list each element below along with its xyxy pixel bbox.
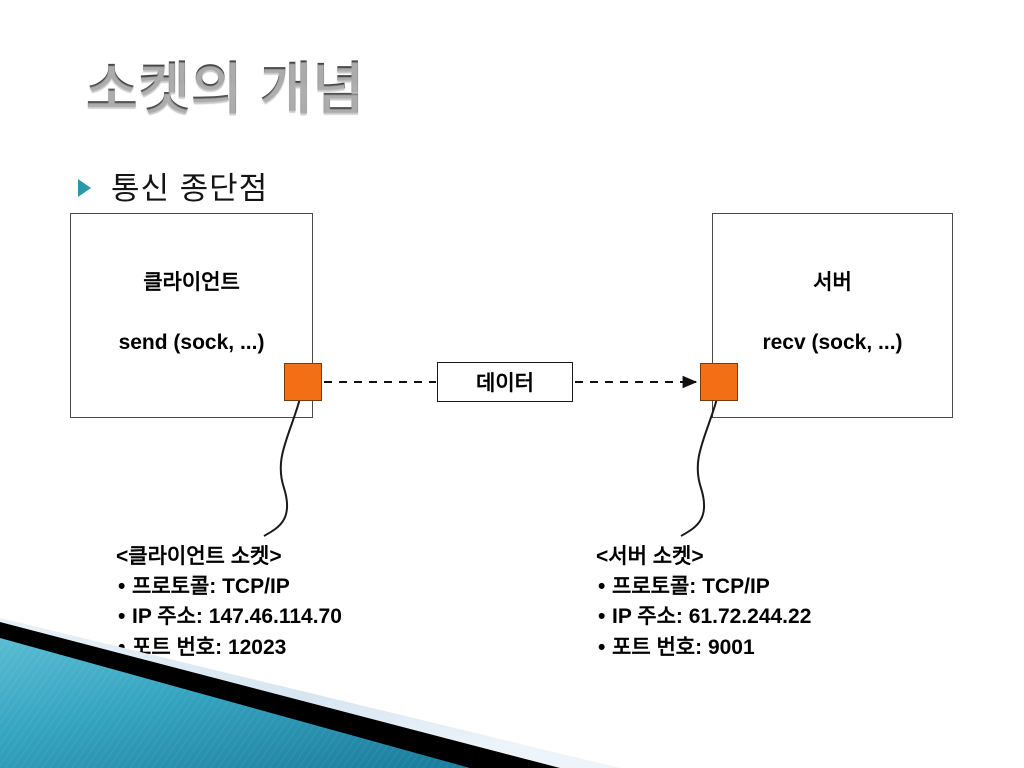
- triangle-bullet-icon: [78, 179, 91, 197]
- client-socket-square-icon: [284, 363, 322, 401]
- client-role-label: 클라이언트: [71, 266, 312, 296]
- slide-title: 소켓의 개념: [86, 44, 365, 125]
- client-socket-annotation: <클라이언트 소켓> 프로토콜: TCP/IP IP 주소: 147.46.11…: [116, 542, 342, 663]
- data-label-box: 데이터: [437, 362, 573, 402]
- server-socket-annotation: <서버 소켓> 프로토콜: TCP/IP IP 주소: 61.72.244.22…: [596, 542, 811, 663]
- bullet-row: 통신 종단점: [78, 163, 268, 208]
- client-annotation-ip: IP 주소: 147.46.114.70: [116, 602, 342, 632]
- server-annotation-ip: IP 주소: 61.72.244.22: [596, 602, 811, 632]
- client-annotation-protocol: 프로토콜: TCP/IP: [116, 572, 342, 602]
- server-role-label: 서버: [713, 266, 952, 296]
- client-call-label: send (sock, ...): [71, 331, 312, 355]
- server-annotation-protocol: 프로토콜: TCP/IP: [596, 572, 811, 602]
- server-annotation-port: 포트 번호: 9001: [596, 633, 811, 663]
- server-call-label: recv (sock, ...): [713, 331, 952, 355]
- client-endpoint-box: 클라이언트 send (sock, ...): [70, 213, 313, 418]
- server-annotation-heading: <서버 소켓>: [596, 542, 811, 572]
- bullet-text: 통신 종단점: [111, 163, 268, 208]
- client-annotation-heading: <클라이언트 소켓>: [116, 542, 342, 572]
- server-endpoint-box: 서버 recv (sock, ...): [712, 213, 953, 418]
- presentation-slide: 소켓의 개념 통신 종단점 클라이언트 send (sock, ...) 서버 …: [0, 0, 1024, 768]
- server-socket-square-icon: [700, 363, 738, 401]
- client-annotation-port: 포트 번호: 12023: [116, 633, 342, 663]
